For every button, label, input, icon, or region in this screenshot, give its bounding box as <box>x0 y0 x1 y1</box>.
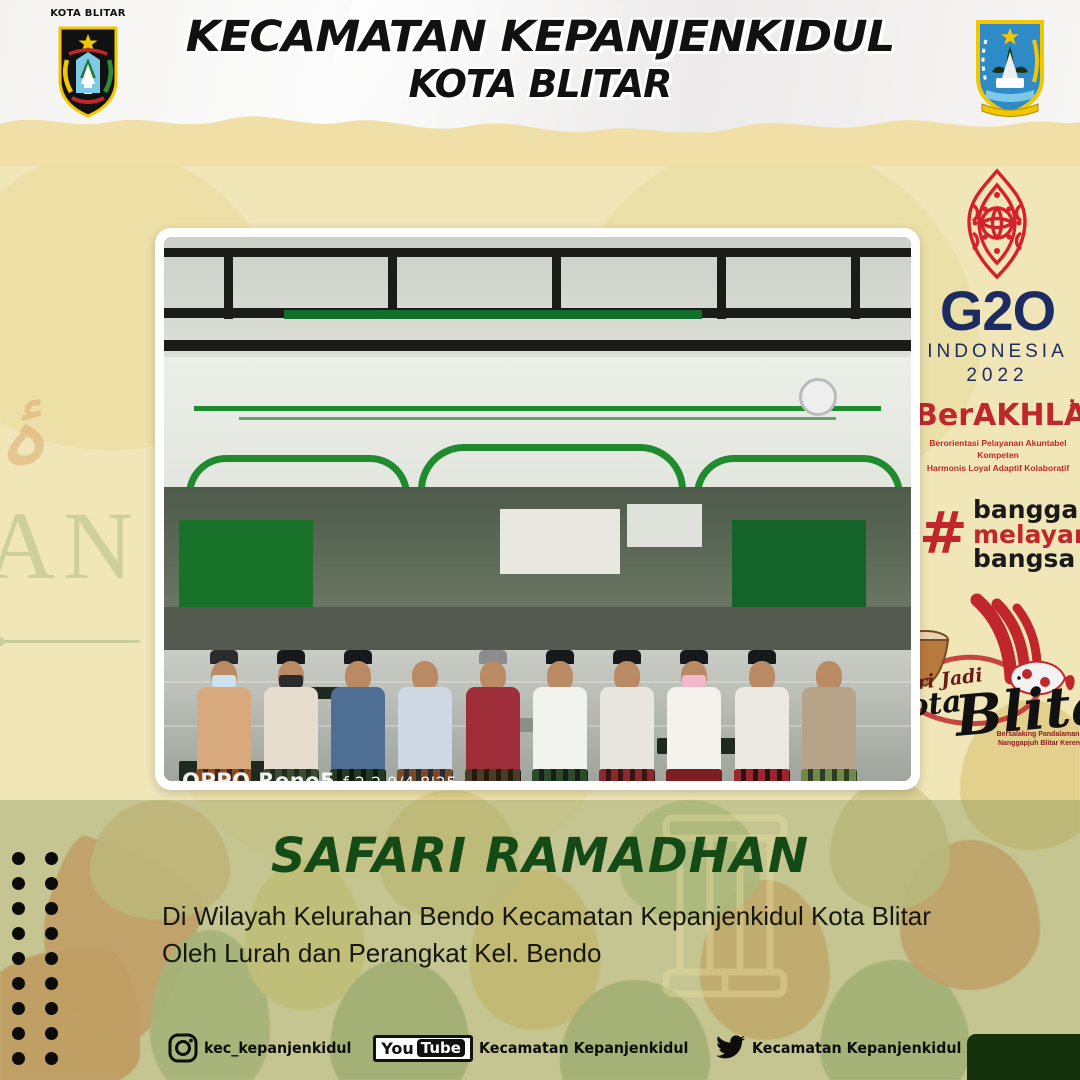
event-title: SAFARI RAMADHAN <box>0 828 1080 884</box>
side-logo-column: G2O INDONESIA 2022 ’ BerAKHLAK Berorient… <box>915 165 1080 757</box>
corner-accent-block <box>967 1034 1080 1080</box>
twitter-icon[interactable] <box>716 1035 746 1061</box>
g20-year-label: 2022 <box>915 365 1080 387</box>
photo-watermark-brand: OPPO Reno5 <box>182 769 335 781</box>
twitter-handle: Kecamatan Kepanjenkidul <box>752 1039 961 1057</box>
berakhlak-values: Berorientasi Pelayanan Akuntabel Kompete… <box>919 437 1077 474</box>
background-letter-watermark: AN <box>0 490 141 601</box>
kota-blitar-crest-label: KOTA BLITAR <box>38 8 138 19</box>
berakhlak-logo: ’ BerAKHLAK Berorientasi Pelayanan Akunt… <box>915 401 1080 476</box>
blitar-anniversary-tagline-line1: Bersalaking Pandalaman, <box>979 730 1080 739</box>
bangga-wordmark: bangga melayani bangsa <box>973 498 1080 572</box>
bangga-melayani-bangsa-logo: # bangga melayani bangsa <box>915 490 1080 572</box>
background-accent-line <box>0 640 140 643</box>
event-subtitle-line1: Di Wilayah Kelurahan Bendo Kecamatan Kep… <box>162 898 962 935</box>
social-media-bar: kec_kepanjenkidul You Tube Kecamatan Kep… <box>168 1028 958 1068</box>
safari-ramadhan-group-photo: OPPO Reno5 f 2.2 9/4 8'25 <box>164 237 911 781</box>
berakhlak-wordmark: BerAKHLAK <box>915 401 1080 431</box>
page-title: KECAMATAN KEPANJENKIDUL KOTA BLITAR <box>0 14 1080 105</box>
kota-blitar-crest: KOTA BLITAR <box>38 8 138 120</box>
g20-batik-ornament-icon <box>915 165 1080 285</box>
bangga-line3: bangsa <box>973 547 1080 572</box>
blitar-anniversary-tagline-line2: Nanggapjuh Blitar Keren <box>979 739 1080 748</box>
social-instagram[interactable]: kec_kepanjenkidul <box>168 1033 364 1063</box>
g20-logo: G2O INDONESIA 2022 <box>915 165 1080 395</box>
header-title-line1: KECAMATAN KEPANJENKIDUL <box>0 14 1080 60</box>
social-youtube[interactable]: You Tube Kecamatan Kepanjenkidul <box>373 1035 706 1062</box>
event-subtitle: Di Wilayah Kelurahan Bendo Kecamatan Kep… <box>162 898 962 972</box>
social-twitter[interactable]: Kecamatan Kepanjenkidul <box>716 1035 980 1061</box>
blitar-anniversary-tagline: Bersalaking Pandalaman, Nanggapjuh Blita… <box>979 730 1080 749</box>
photo-watermark: OPPO Reno5 f 2.2 9/4 8'25 <box>182 769 457 781</box>
instagram-icon[interactable] <box>168 1033 198 1063</box>
berakhlak-values-line2: Harmonis Loyal Adaptif Kolaboratif <box>919 462 1077 474</box>
jawa-timur-crest-shield <box>962 12 1058 120</box>
kota-blitar-crest-shield <box>38 8 138 120</box>
youtube-you-text: You <box>381 1039 414 1058</box>
bangga-line1: bangga <box>973 498 1080 523</box>
photo-watermark-meta: f 2.2 9/4 8'25 <box>343 773 457 781</box>
photo-frame: OPPO Reno5 f 2.2 9/4 8'25 <box>155 228 920 790</box>
jawa-timur-crest <box>962 12 1058 120</box>
poster-canvas: ۀ AN KECAMATAN KEPANJENKIDUL KOTA BLITAR… <box>0 0 1080 1080</box>
event-subtitle-line2: Oleh Lurah dan Perangkat Kel. Bendo <box>162 935 962 972</box>
berakhlak-values-line1: Berorientasi Pelayanan Akuntabel Kompete… <box>919 437 1077 462</box>
g20-country-label: INDONESIA <box>915 341 1080 363</box>
g20-wordmark: G2O <box>915 283 1080 339</box>
header-wave-divider <box>0 96 1080 166</box>
youtube-tube-text: Tube <box>417 1039 465 1057</box>
hashtag-icon: # <box>919 504 968 562</box>
background-script-watermark: ۀ <box>0 378 52 488</box>
youtube-handle: Kecamatan Kepanjenkidul <box>479 1039 688 1057</box>
instagram-handle: kec_kepanjenkidul <box>204 1039 351 1057</box>
youtube-icon[interactable]: You Tube <box>373 1035 473 1062</box>
